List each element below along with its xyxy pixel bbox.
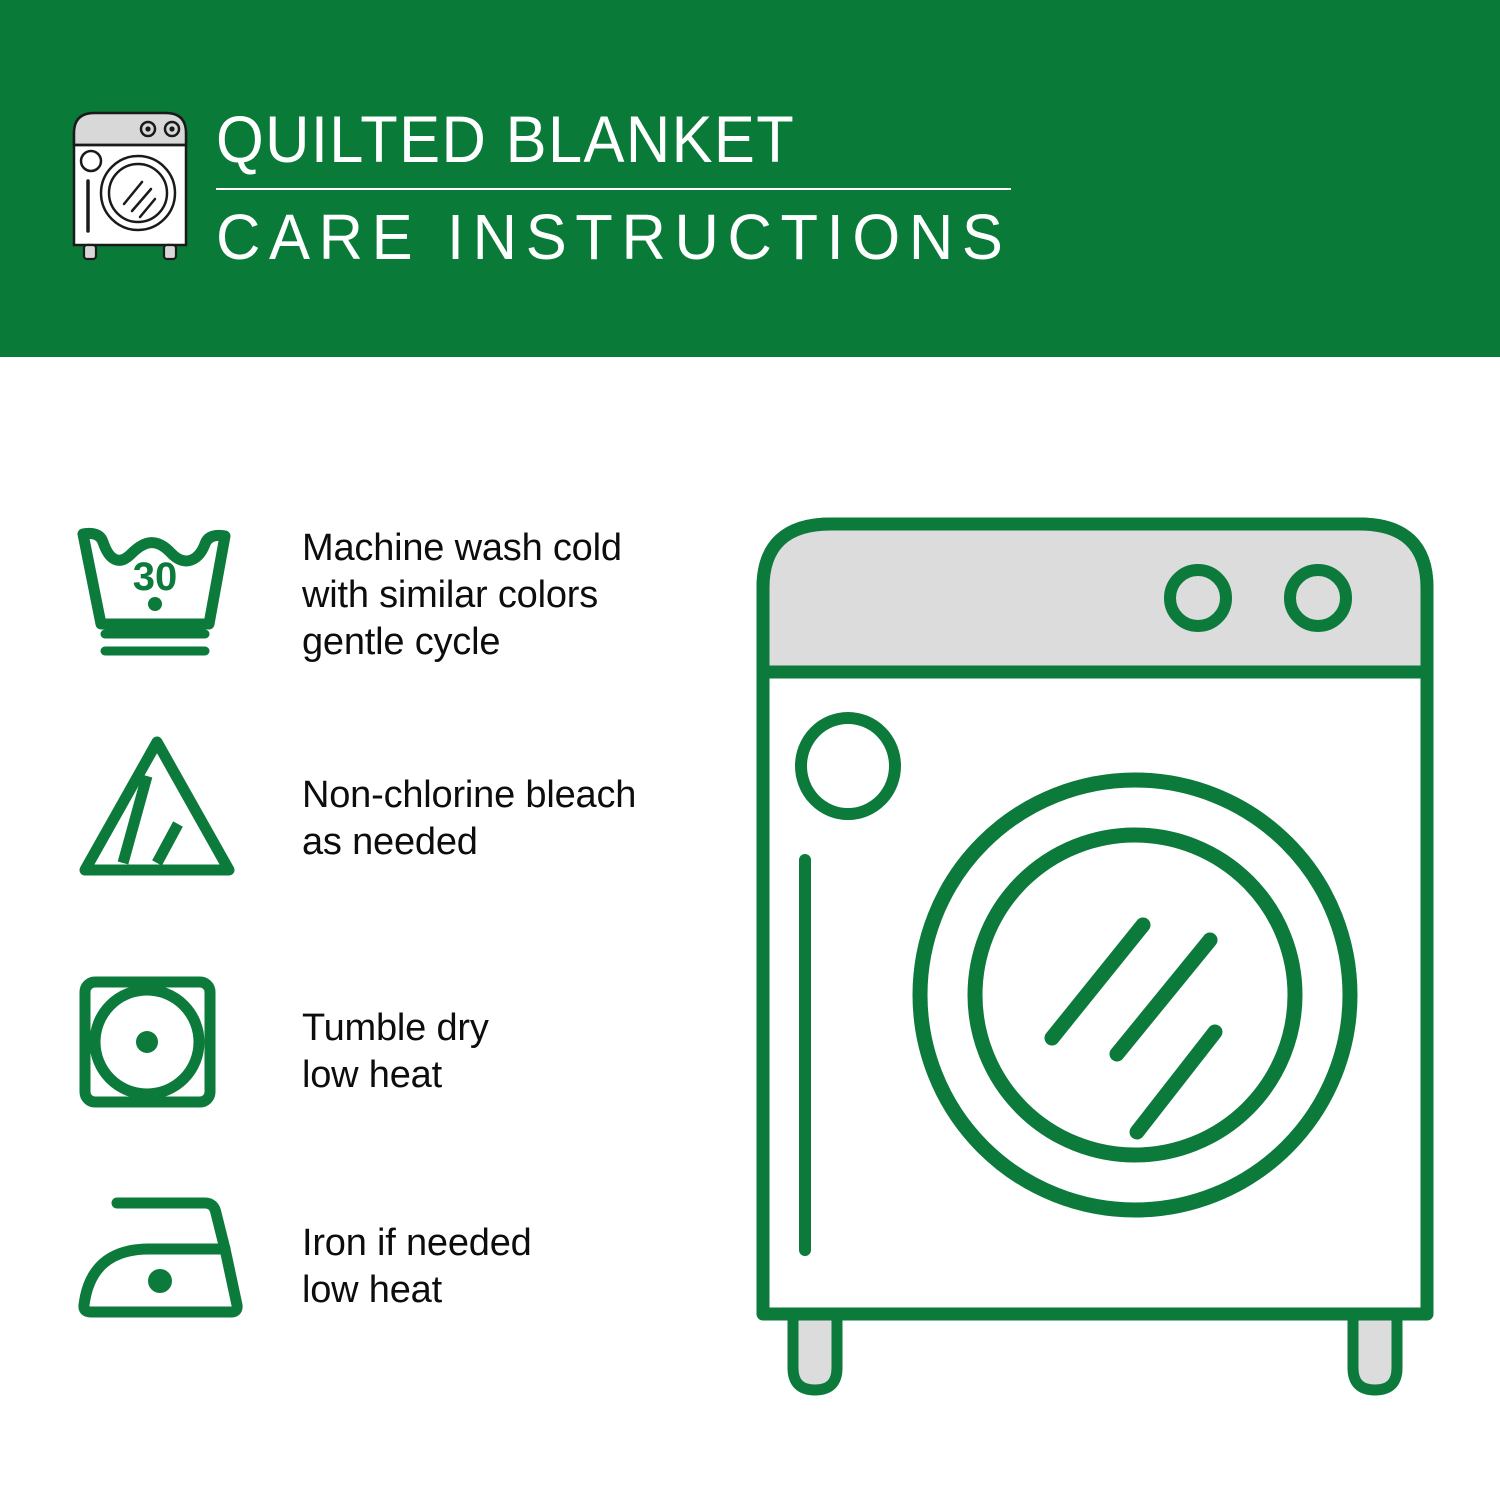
page-title: QUILTED BLANKET [216, 100, 960, 178]
care-text-line: Machine wash cold [302, 525, 622, 572]
header-text-block: QUILTED BLANKET CARE INSTRUCTIONS [216, 100, 1016, 275]
care-text-line: low heat [302, 1052, 489, 1099]
header-band: QUILTED BLANKET CARE INSTRUCTIONS [0, 0, 1500, 357]
care-text-line: low heat [302, 1267, 532, 1314]
care-item-iron-text: Iron if needed low heat [302, 1220, 532, 1314]
care-text-line: Tumble dry [302, 1005, 489, 1052]
iron-low-heat-icon [75, 1189, 250, 1324]
care-instruction-list: 30 Machine wash cold with similar colors… [0, 357, 700, 1500]
care-item-wash-text: Machine wash cold with similar colors ge… [302, 525, 622, 666]
care-instructions-page: QUILTED BLANKET CARE INSTRUCTIONS 30 [0, 0, 1500, 1500]
care-item-tumble-dry-text: Tumble dry low heat [302, 1005, 489, 1099]
machine-wash-30-gentle-icon: 30 [75, 520, 245, 665]
front-load-washing-machine-illustration [745, 500, 1445, 1410]
care-text-line: as needed [302, 819, 636, 866]
care-text-line: Iron if needed [302, 1220, 532, 1267]
page-subtitle: CARE INSTRUCTIONS [216, 199, 984, 275]
title-divider [216, 188, 1011, 190]
leg-left [793, 1310, 837, 1390]
non-chlorine-bleach-triangle-icon [75, 732, 245, 885]
washing-machine-icon [62, 105, 202, 265]
tumble-dry-low-heat-icon [75, 972, 225, 1117]
control-panel [763, 524, 1427, 672]
wash-temperature-label: 30 [133, 555, 178, 599]
leg-right [1353, 1310, 1397, 1390]
care-text-line: Non-chlorine bleach [302, 772, 636, 819]
care-item-bleach-text: Non-chlorine bleach as needed [302, 772, 636, 866]
care-text-line: gentle cycle [302, 619, 622, 666]
care-text-line: with similar colors [302, 572, 622, 619]
